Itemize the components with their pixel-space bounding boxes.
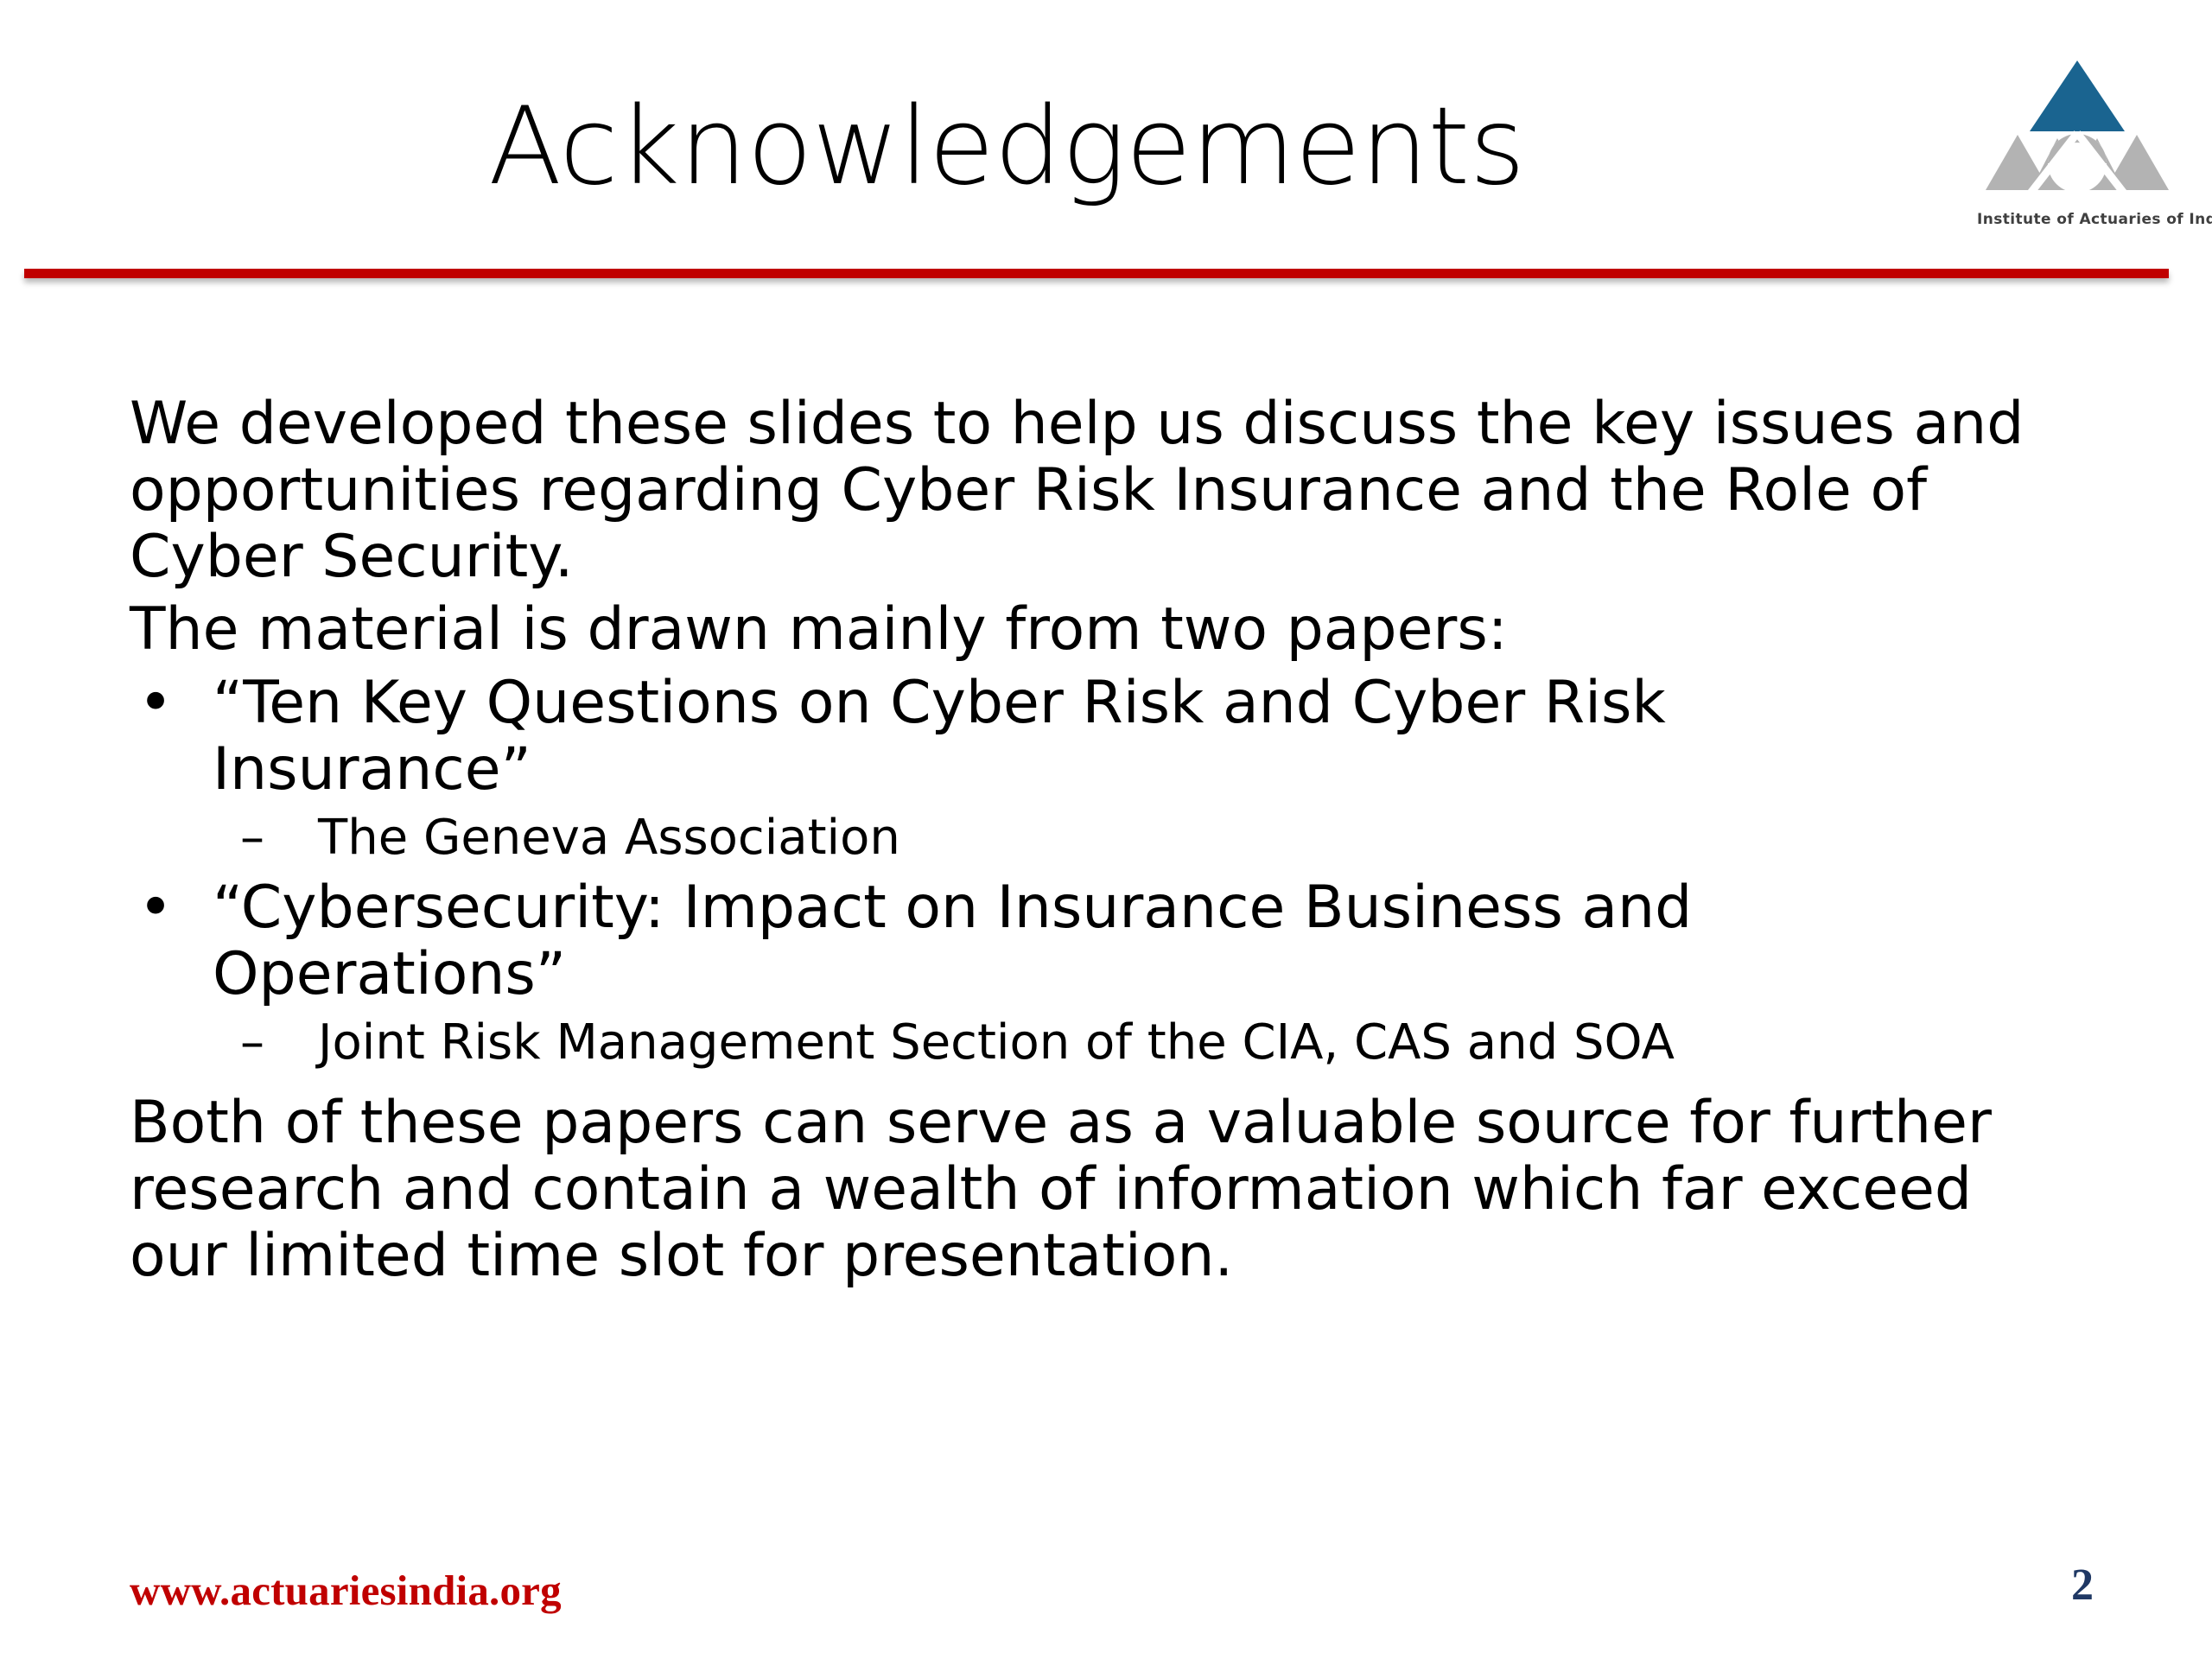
source-lead-paragraph: The material is drawn mainly from two pa… (130, 596, 2091, 663)
bullet-text: “Cybersecurity: Impact on Insurance Busi… (213, 874, 1993, 1007)
bullet-marker-icon: • (130, 670, 213, 736)
closing-paragraph: Both of these papers can serve as a valu… (130, 1090, 2031, 1290)
organisation-logo: Institute of Actuaries of India (1977, 41, 2177, 249)
list-item: • “Ten Key Questions on Cyber Risk and C… (130, 670, 2108, 803)
spacer (130, 1079, 2108, 1090)
sub-bullet-text: The Geneva Association (318, 811, 2108, 866)
intro-paragraph: We developed these slides to help us dis… (130, 391, 2091, 591)
sub-list-item: – The Geneva Association (130, 811, 2108, 866)
dash-marker-icon: – (240, 811, 318, 866)
title-divider-rule (24, 269, 2169, 278)
pyramid-logo-icon (1977, 41, 2177, 210)
footer-website-link[interactable]: www.actuariesindia.org (130, 1566, 562, 1615)
sub-bullet-text: Joint Risk Management Section of the CIA… (318, 1016, 2108, 1071)
bullet-text: “Ten Key Questions on Cyber Risk and Cyb… (213, 670, 1993, 803)
bullet-marker-icon: • (130, 874, 213, 941)
sub-list-item: – Joint Risk Management Section of the C… (130, 1016, 2108, 1071)
presentation-slide: Acknowledgements (0, 0, 2212, 1659)
slide-body: We developed these slides to help us dis… (130, 391, 2108, 1294)
logo-caption: Institute of Actuaries of India (1977, 211, 2177, 228)
page-title: Acknowledgements (0, 93, 2013, 200)
list-item: • “Cybersecurity: Impact on Insurance Bu… (130, 874, 2108, 1007)
dash-marker-icon: – (240, 1016, 318, 1071)
page-number: 2 (2056, 1560, 2108, 1611)
